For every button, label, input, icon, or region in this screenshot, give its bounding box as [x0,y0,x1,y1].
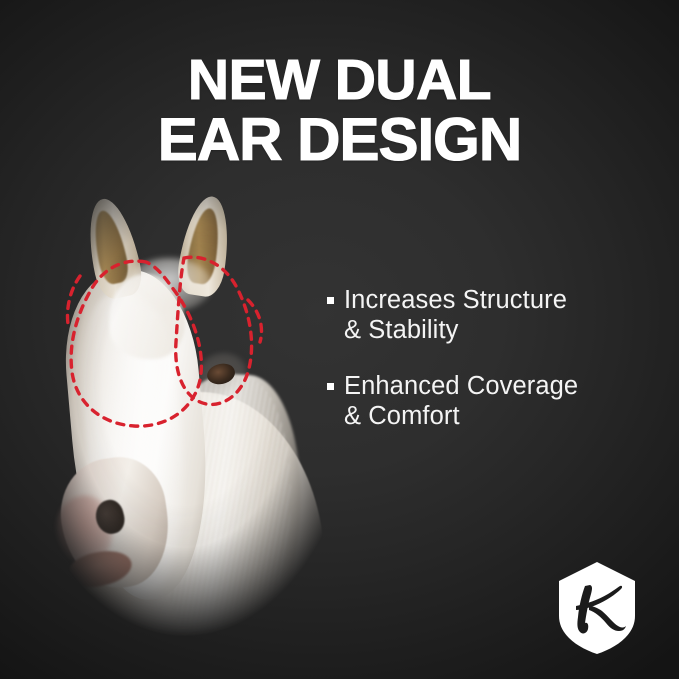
shield-shape [559,562,635,654]
feature-text: Enhanced Coverage & Comfort [344,371,578,431]
product-hero-image [34,196,324,666]
page-title: NEW DUAL EAR DESIGN [0,50,679,170]
headline-line-2: EAR DESIGN [0,110,679,170]
dashed-outline-left-accent [68,276,81,324]
feature-line-2: & Comfort [344,401,578,431]
feature-list: Increases Structure & Stability Enhanced… [327,285,657,457]
ear-region-annotation [34,196,324,666]
headline-line-1: NEW DUAL [0,50,679,110]
feature-text: Increases Structure & Stability [344,285,567,345]
dashed-outline-right-ear [176,257,252,404]
list-item: Enhanced Coverage & Comfort [327,371,657,431]
square-bullet-icon [327,297,334,304]
list-item: Increases Structure & Stability [327,285,657,345]
feature-line-2: & Stability [344,315,567,345]
shield-icon [554,560,640,656]
brand-logo [554,560,640,656]
feature-line-1: Increases Structure [344,286,567,314]
dashed-outline-left-ear [71,261,201,426]
square-bullet-icon [327,383,334,390]
feature-line-1: Enhanced Coverage [344,372,578,400]
promo-banner: NEW DUAL EAR DESIGN [0,0,679,679]
